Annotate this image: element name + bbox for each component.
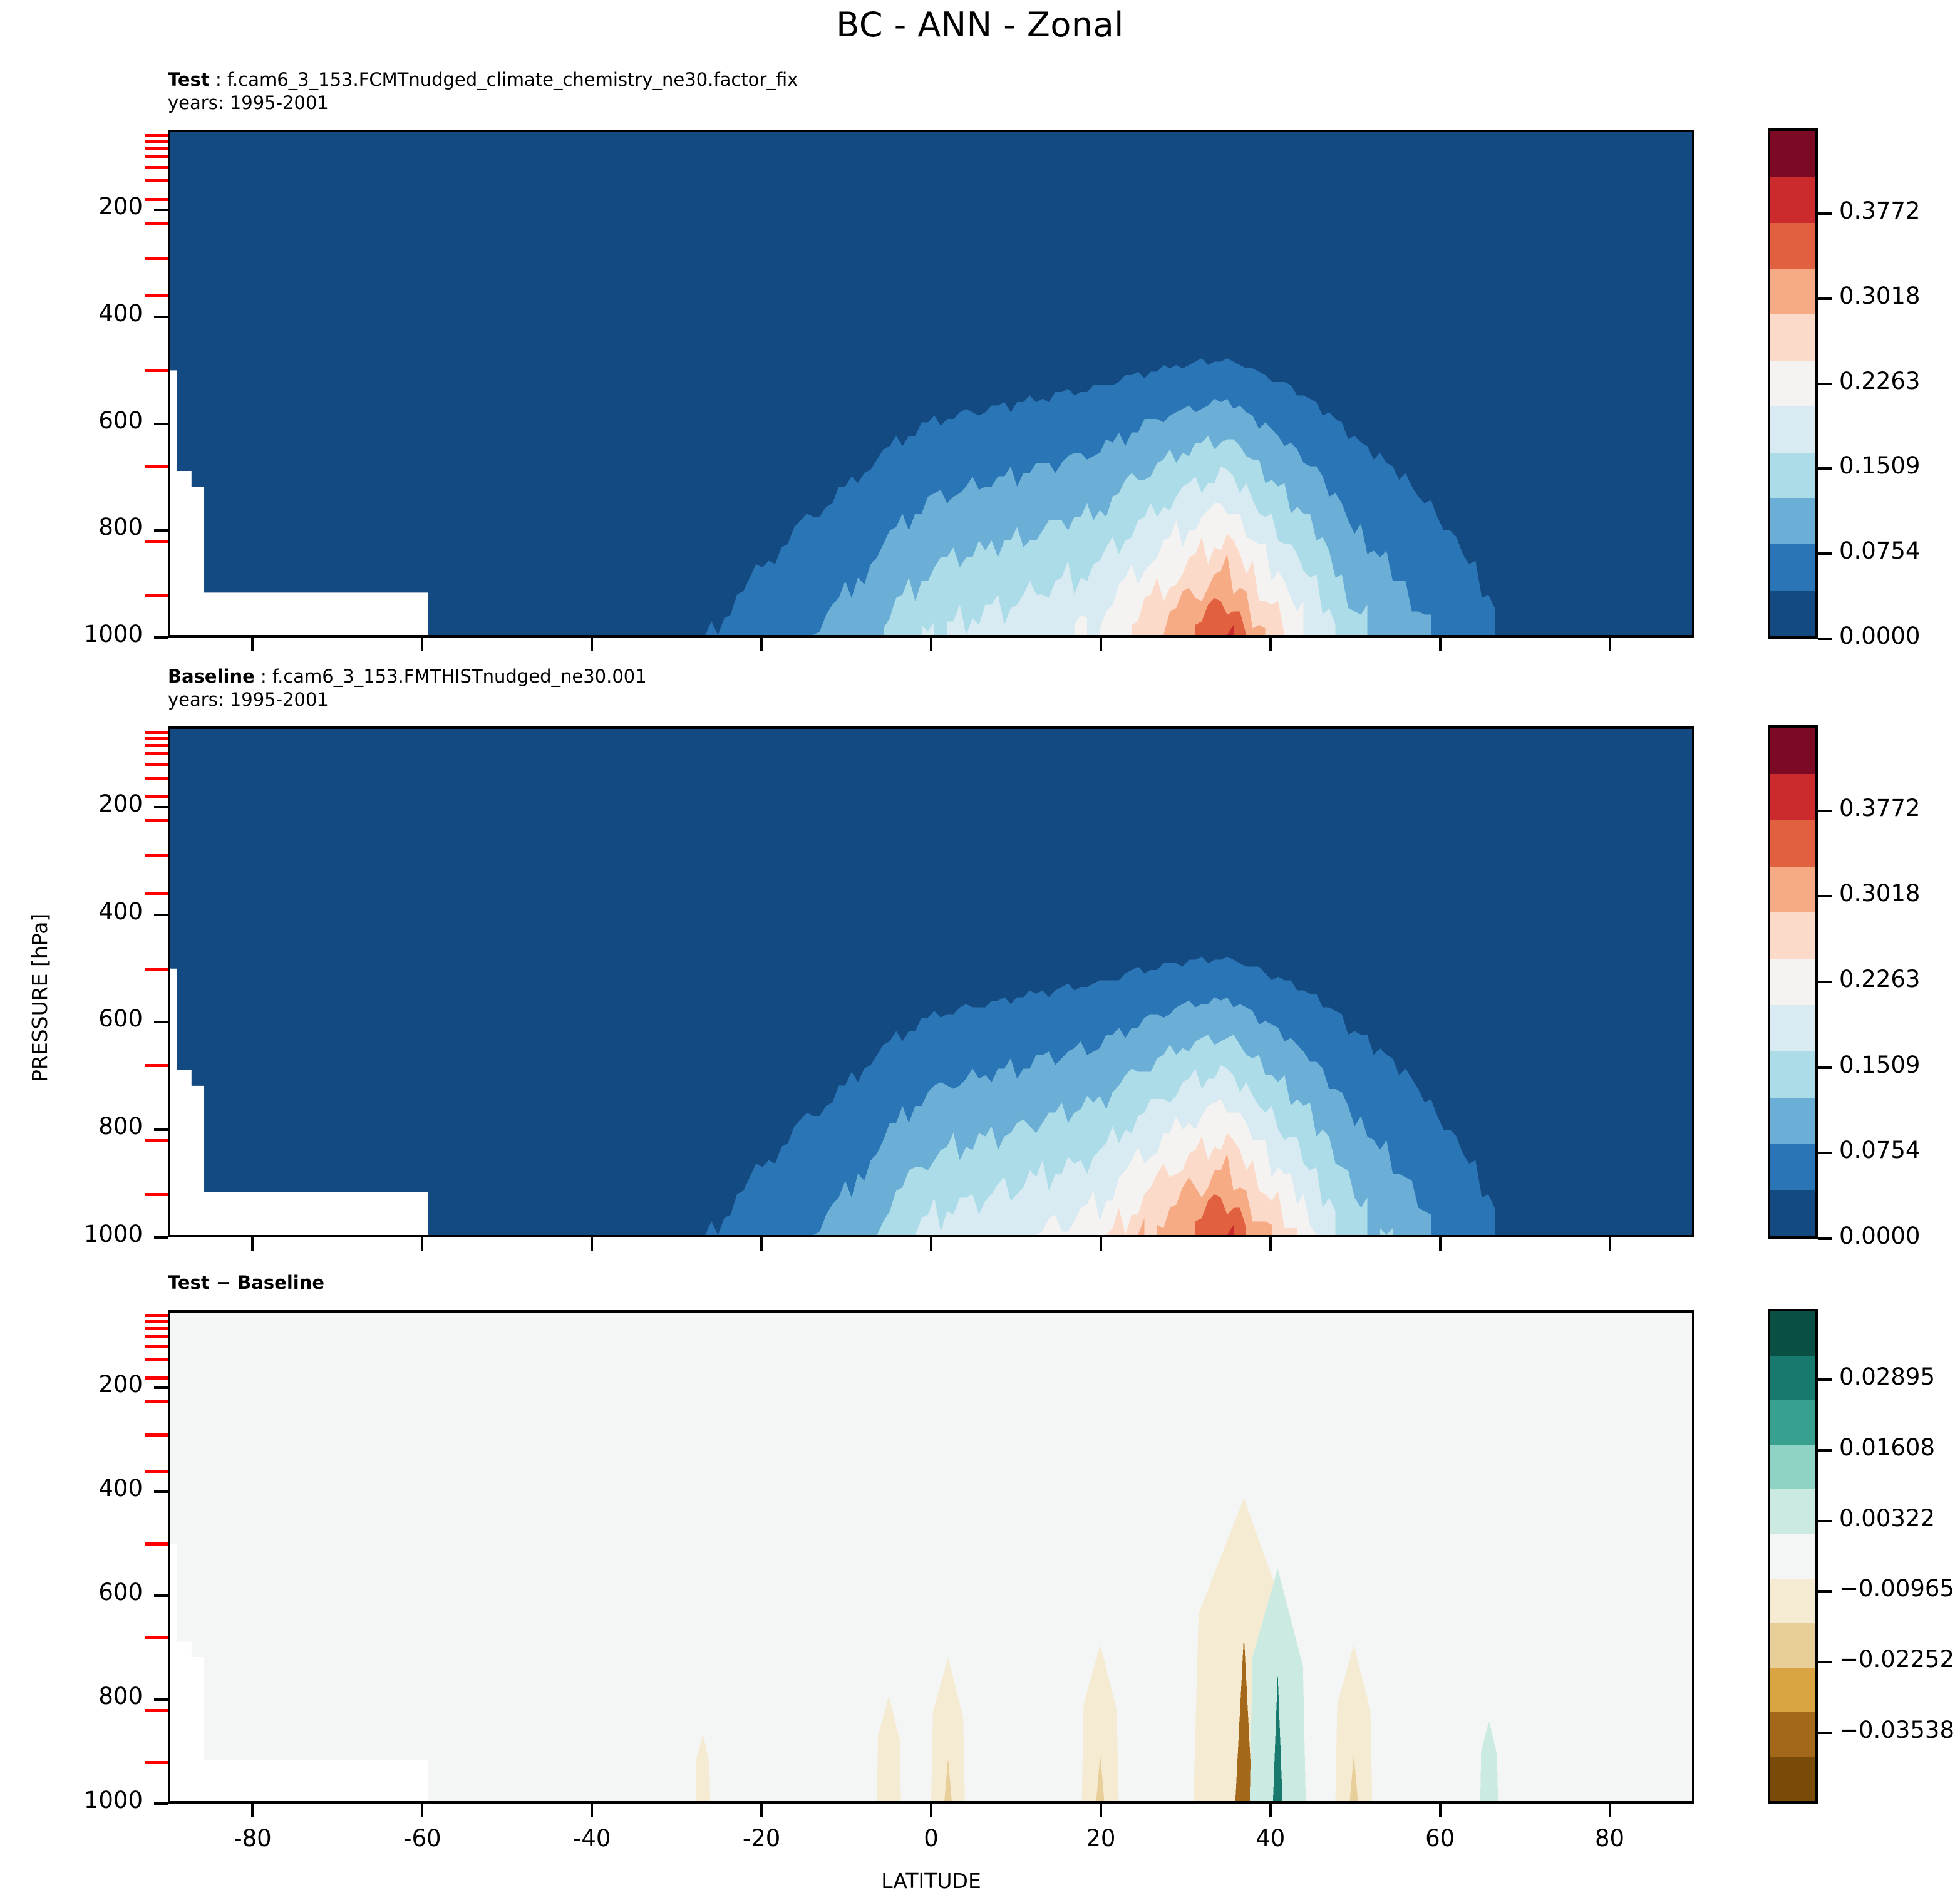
panel-role-label-baseline: Baseline [168, 666, 255, 687]
colorbar-tick-mark [1818, 212, 1832, 215]
y-minor-tick-red [145, 1064, 168, 1067]
panel-subtitle-difference: Test − Baseline [168, 1271, 324, 1294]
colorbar-unit-label: μg/m3 [1957, 961, 1960, 1027]
x-tick-mark [1439, 1804, 1442, 1817]
x-tick-mark [251, 1237, 254, 1251]
colorbar-segment-9 [1770, 177, 1815, 222]
y-tick-mark [154, 914, 168, 916]
colorbar-tick-mark [1818, 383, 1832, 385]
colorbar-cbar-difference[interactable] [1768, 1309, 1818, 1804]
y-minor-tick-red [145, 892, 168, 895]
x-tick-mark [421, 1237, 423, 1251]
y-minor-tick-red [145, 294, 168, 297]
x-tick-mark [1439, 1237, 1442, 1251]
colorbar-segment-2 [1770, 1668, 1815, 1712]
panel-role-label-test: Test [168, 69, 210, 90]
x-tick-mark [1609, 638, 1611, 651]
colorbar-segment-10 [1770, 131, 1815, 177]
y-minor-tick-red [145, 134, 168, 137]
y-minor-tick-red [145, 465, 168, 468]
colorbar-tick-label: 0.1509 [1839, 1051, 1920, 1078]
y-tick-label: 400 [36, 898, 143, 925]
plot-background [170, 1313, 1692, 1801]
colorbar-tick-label: 0.00322 [1839, 1505, 1935, 1532]
y-tick-label: 1000 [36, 1787, 143, 1814]
y-tick-mark [154, 636, 168, 639]
colorbar-tick-mark [1818, 1732, 1832, 1734]
y-minor-tick-red [145, 1335, 168, 1338]
colorbar-segment-1 [1770, 544, 1815, 590]
colorbar-segment-7 [1770, 269, 1815, 314]
y-tick-label: 600 [36, 1005, 143, 1032]
colorbar-segment-3 [1770, 1051, 1815, 1098]
colorbar-tick-label: 0.2263 [1839, 368, 1920, 395]
y-tick-mark [154, 1128, 168, 1131]
colorbar-tick-mark [1818, 1590, 1832, 1593]
y-tick-label: 400 [36, 300, 143, 327]
colorbar-tick-mark [1818, 810, 1832, 812]
x-tick-label: 60 [1371, 1825, 1509, 1852]
colorbar-segment-9 [1770, 1356, 1815, 1400]
y-minor-tick-red [145, 737, 168, 740]
colorbar-cbar-baseline[interactable] [1768, 725, 1818, 1239]
colorbar-segment-0 [1770, 1190, 1815, 1236]
colorbar-segment-5 [1770, 1534, 1815, 1578]
colorbar-segment-4 [1770, 406, 1815, 452]
colorbar-tick-mark [1818, 1520, 1832, 1522]
colorbar-tick-label: 0.1509 [1839, 452, 1920, 479]
y-minor-tick-red [145, 1376, 168, 1380]
colorbar-segment-3 [1770, 453, 1815, 498]
colorbar-tick-label: 0.02895 [1839, 1363, 1935, 1390]
y-tick-label: 800 [36, 514, 143, 540]
colorbar-segment-4 [1770, 1005, 1815, 1051]
colorbar-tick-label: 0.3018 [1839, 282, 1920, 309]
y-tick-label: 200 [36, 1371, 143, 1398]
panel-subtitle-test: Test : f.cam6_3_153.FCMTnudged_climate_c… [168, 68, 798, 115]
y-minor-tick-red [145, 854, 168, 857]
panel-role-label-difference: Test − Baseline [168, 1272, 324, 1293]
y-tick-mark [154, 423, 168, 425]
colorbar-segment-10 [1770, 1311, 1815, 1356]
y-minor-tick-red [145, 222, 168, 225]
colorbar-segment-6 [1770, 912, 1815, 959]
x-tick-mark [760, 1237, 763, 1251]
y-minor-tick-red [145, 257, 168, 260]
figure-title: BC - ANN - Zonal [0, 5, 1960, 44]
colorbar-segment-8 [1770, 1400, 1815, 1445]
y-minor-tick-red [145, 1139, 168, 1142]
y-tick-mark [154, 806, 168, 808]
panel-case-name-test: : f.cam6_3_153.FCMTnudged_climate_chemis… [210, 69, 798, 90]
x-tick-mark [1269, 638, 1272, 651]
x-tick-mark [1100, 638, 1102, 651]
y-tick-mark [154, 1594, 168, 1597]
plot-panel-difference[interactable] [168, 1310, 1694, 1804]
y-minor-tick-red [145, 1542, 168, 1546]
y-minor-tick-red [145, 777, 168, 780]
y-minor-tick-red [145, 731, 168, 734]
plot-panel-baseline[interactable] [168, 726, 1694, 1237]
x-tick-mark [251, 638, 254, 651]
y-tick-mark [154, 1698, 168, 1701]
panel-years-test: years: 1995-2001 [168, 91, 798, 115]
x-tick-mark [591, 1804, 593, 1817]
y-tick-mark [154, 1386, 168, 1389]
y-minor-tick-red [145, 1470, 168, 1473]
x-tick-label: -80 [183, 1825, 321, 1852]
y-minor-tick-red [145, 763, 168, 766]
colorbar-segment-10 [1770, 728, 1815, 774]
colorbar-segment-9 [1770, 774, 1815, 820]
colorbar-tick-mark [1818, 1661, 1832, 1663]
x-tick-mark [1100, 1237, 1102, 1251]
colorbar-tick-label: −0.03538 [1839, 1717, 1954, 1743]
x-tick-label: -60 [353, 1825, 491, 1852]
y-minor-tick-red [145, 147, 168, 150]
y-tick-label: 600 [36, 1579, 143, 1606]
colorbar-tick-mark [1818, 1449, 1832, 1452]
y-minor-tick-red [145, 540, 168, 543]
x-tick-label: 80 [1541, 1825, 1679, 1852]
colorbar-segment-5 [1770, 361, 1815, 406]
x-tick-mark [930, 1237, 932, 1251]
y-minor-tick-red [145, 795, 168, 798]
y-minor-tick-red [145, 1320, 168, 1323]
y-minor-tick-red [145, 744, 168, 747]
figure-canvas: BC - ANN - Zonal Test : f.cam6_3_153.FCM… [0, 0, 1960, 1900]
x-tick-mark [1439, 638, 1442, 651]
y-minor-tick-red [145, 198, 168, 201]
y-tick-label: 200 [36, 193, 143, 220]
colorbar-tick-mark [1818, 1378, 1832, 1381]
colorbar-segment-2 [1770, 498, 1815, 544]
y-minor-tick-red [145, 819, 168, 822]
colorbar-cbar-test[interactable] [1768, 128, 1818, 639]
y-minor-tick-red [145, 1345, 168, 1348]
y-tick-mark [154, 1802, 168, 1805]
x-tick-label: -40 [523, 1825, 661, 1852]
y-minor-tick-red [145, 752, 168, 755]
colorbar-segment-1 [1770, 1712, 1815, 1757]
colorbar-unit-label: μg/m3 [1957, 362, 1960, 428]
y-tick-label: 600 [36, 407, 143, 434]
colorbar-tick-label: 0.3772 [1839, 795, 1920, 822]
y-minor-tick-red [145, 1327, 168, 1330]
y-tick-label: 1000 [36, 1221, 143, 1247]
x-tick-label: -20 [693, 1825, 830, 1852]
y-minor-tick-red [145, 1636, 168, 1639]
colorbar-tick-label: −0.00965 [1839, 1575, 1954, 1602]
colorbar-segment-0 [1770, 591, 1815, 636]
y-tick-label: 800 [36, 1683, 143, 1710]
x-tick-mark [1100, 1804, 1102, 1817]
colorbar-segment-8 [1770, 820, 1815, 867]
y-tick-mark [154, 1236, 168, 1239]
x-tick-mark [760, 1804, 763, 1817]
colorbar-segment-5 [1770, 959, 1815, 1005]
y-tick-label: 400 [36, 1475, 143, 1502]
y-tick-mark [154, 1021, 168, 1023]
colorbar-segment-4 [1770, 1579, 1815, 1623]
x-tick-mark [421, 1804, 423, 1817]
colorbar-segment-8 [1770, 223, 1815, 269]
y-tick-mark [154, 529, 168, 532]
colorbar-tick-mark [1818, 981, 1832, 983]
colorbar-segment-1 [1770, 1144, 1815, 1190]
y-axis-label: PRESSURE [hPa] [28, 914, 52, 1082]
colorbar-tick-mark [1818, 552, 1832, 555]
y-tick-mark [154, 209, 168, 211]
colorbar-tick-label: 0.0754 [1839, 537, 1920, 564]
x-tick-mark [930, 638, 932, 651]
plot-panel-test[interactable] [168, 130, 1694, 638]
colorbar-tick-mark [1818, 895, 1832, 897]
panel-subtitle-baseline: Baseline : f.cam6_3_153.FMTHISTnudged_ne… [168, 665, 647, 711]
colorbar-segment-0 [1770, 1757, 1815, 1801]
y-minor-tick-red [145, 179, 168, 182]
x-tick-label: 40 [1202, 1825, 1339, 1852]
y-tick-mark [154, 1490, 168, 1493]
colorbar-tick-mark [1818, 1066, 1832, 1069]
x-tick-mark [251, 1804, 254, 1817]
x-tick-mark [1609, 1804, 1611, 1817]
x-tick-mark [421, 638, 423, 651]
y-minor-tick-red [145, 968, 168, 971]
y-minor-tick-red [145, 1314, 168, 1317]
y-tick-label: 800 [36, 1113, 143, 1140]
y-minor-tick-red [145, 155, 168, 158]
y-minor-tick-red [145, 1433, 168, 1437]
colorbar-tick-label: 0.0754 [1839, 1137, 1920, 1164]
x-tick-label: 20 [1032, 1825, 1170, 1852]
colorbar-tick-mark [1818, 297, 1832, 300]
colorbar-segment-3 [1770, 1623, 1815, 1668]
colorbar-tick-label: 0.3772 [1839, 197, 1920, 224]
x-tick-mark [591, 638, 593, 651]
x-tick-mark [760, 638, 763, 651]
colorbar-tick-mark [1818, 638, 1832, 640]
y-minor-tick-red [145, 594, 168, 597]
x-tick-label: 0 [862, 1825, 1000, 1852]
y-tick-mark [154, 316, 168, 318]
colorbar-tick-mark [1818, 467, 1832, 470]
colorbar-tick-mark [1818, 1152, 1832, 1154]
colorbar-tick-mark [1818, 1237, 1832, 1240]
y-minor-tick-red [145, 1761, 168, 1764]
colorbar-segment-6 [1770, 314, 1815, 360]
panel-years-baseline: years: 1995-2001 [168, 688, 647, 711]
y-minor-tick-red [145, 369, 168, 372]
colorbar-segment-7 [1770, 867, 1815, 913]
colorbar-tick-label: 0.01608 [1839, 1434, 1935, 1461]
colorbar-tick-label: 0.3018 [1839, 880, 1920, 907]
y-minor-tick-red [145, 1358, 168, 1361]
colorbar-tick-label: 0.2263 [1839, 966, 1920, 993]
y-minor-tick-red [145, 166, 168, 169]
x-tick-mark [1269, 1804, 1272, 1817]
colorbar-tick-label: 0.0000 [1839, 622, 1920, 649]
y-minor-tick-red [145, 140, 168, 143]
x-tick-mark [930, 1804, 932, 1817]
colorbar-tick-label: −0.02252 [1839, 1646, 1954, 1673]
y-minor-tick-red [145, 1193, 168, 1196]
y-minor-tick-red [145, 1400, 168, 1403]
colorbar-segment-7 [1770, 1445, 1815, 1489]
panel-case-name-baseline: : f.cam6_3_153.FMTHISTnudged_ne30.001 [255, 666, 647, 687]
x-tick-mark [1609, 1237, 1611, 1251]
x-tick-mark [591, 1237, 593, 1251]
colorbar-segment-6 [1770, 1489, 1815, 1534]
colorbar-tick-label: 0.0000 [1839, 1222, 1920, 1249]
y-tick-label: 200 [36, 790, 143, 817]
y-minor-tick-red [145, 1709, 168, 1712]
colorbar-segment-2 [1770, 1098, 1815, 1144]
x-axis-label: LATITUDE [862, 1869, 1000, 1893]
x-tick-mark [1269, 1237, 1272, 1251]
y-tick-label: 1000 [36, 621, 143, 648]
